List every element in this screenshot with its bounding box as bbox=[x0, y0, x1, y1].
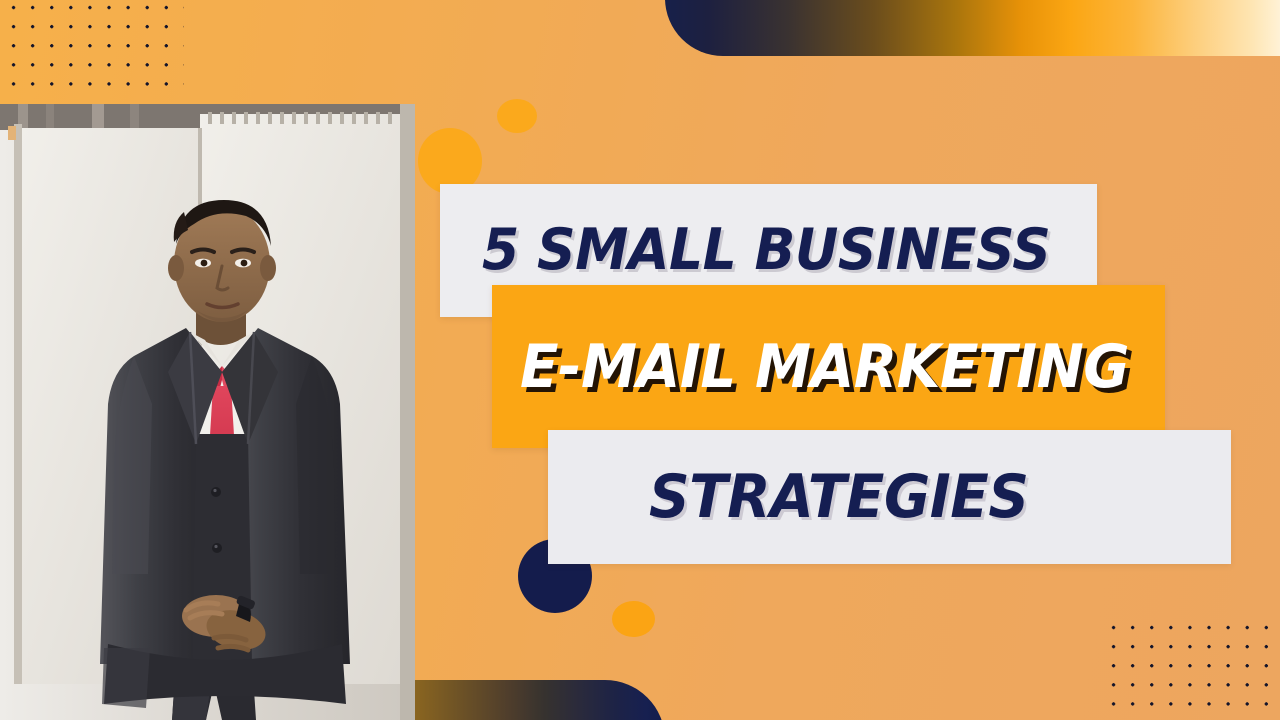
title-card-canvas: 5 SMALL BUSINESS E-MAIL MARKETING STRATE… bbox=[0, 0, 1280, 720]
circle-icon-orange-dot bbox=[612, 601, 655, 637]
headline-band-line3: STRATEGIES bbox=[548, 430, 1231, 564]
gradient-blob-top-right bbox=[665, 0, 1280, 56]
headline-text-line3: STRATEGIES bbox=[649, 467, 1029, 527]
portrait-photo bbox=[0, 104, 415, 720]
headline-text-line1: 5 SMALL BUSINESS bbox=[482, 222, 1050, 279]
gradient-blob-bottom bbox=[415, 680, 665, 720]
headline-text-line2: E-MAIL MARKETING bbox=[520, 337, 1129, 397]
dot-grid-icon-bottom-right bbox=[1100, 614, 1280, 720]
portrait-photo-illustration bbox=[0, 104, 415, 720]
dot-grid-icon-top-left bbox=[0, 0, 184, 88]
circle-icon-orange-small bbox=[497, 99, 537, 133]
headline-band-line2: E-MAIL MARKETING bbox=[492, 285, 1165, 448]
